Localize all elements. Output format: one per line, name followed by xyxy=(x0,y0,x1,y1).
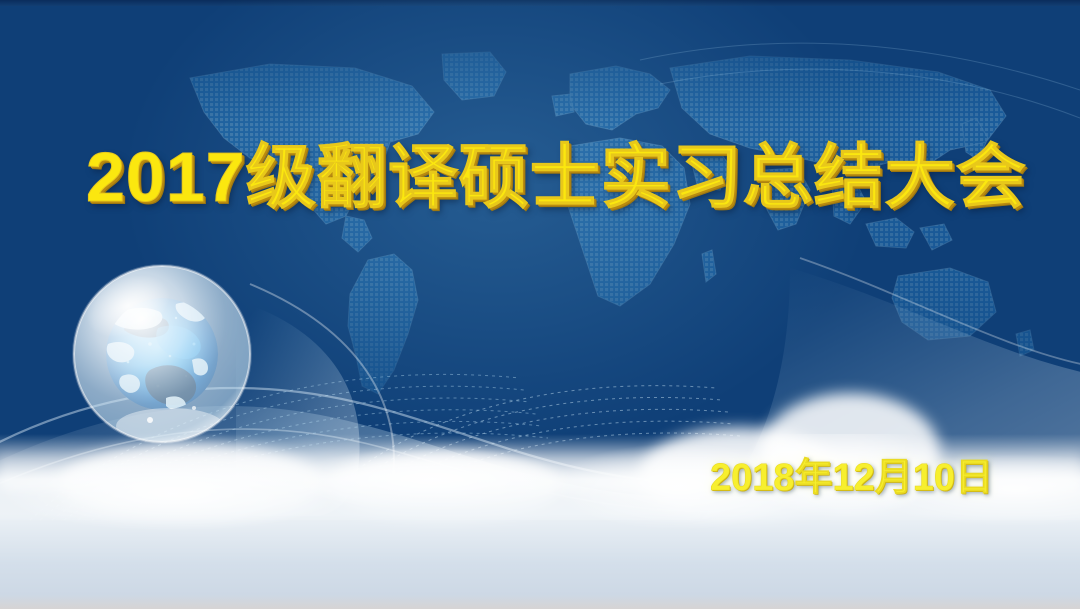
glass-globe-icon xyxy=(66,258,258,450)
top-edge-band xyxy=(0,0,1080,6)
world-map-graphic xyxy=(150,38,1080,438)
page-title: 2017级翻译硕士实习总结大会 xyxy=(86,142,996,212)
event-date: 2018年12月10日 xyxy=(710,446,993,501)
presentation-slide: 2017级翻译硕士实习总结大会 2018年12月10日 xyxy=(0,0,1080,609)
